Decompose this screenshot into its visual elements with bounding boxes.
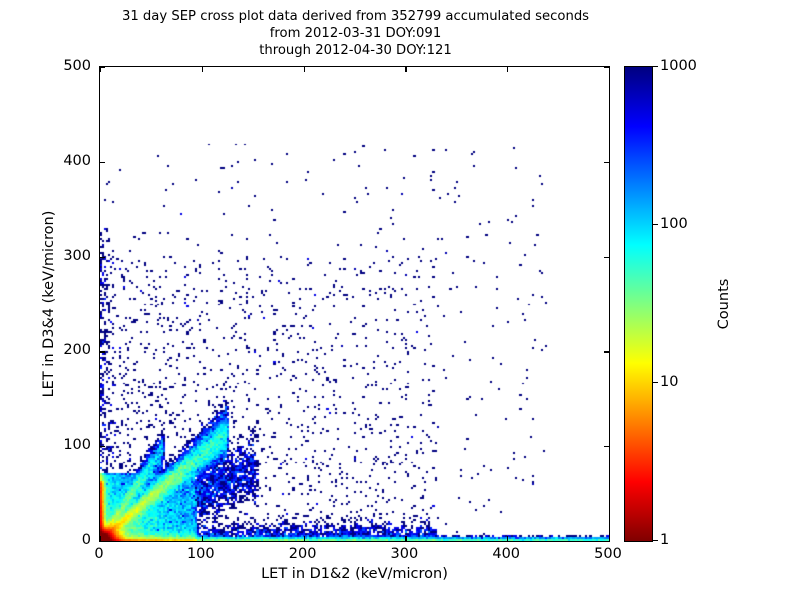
colorbar-tick-100 — [653, 224, 658, 225]
x-tick-300 — [405, 536, 406, 541]
plot-axes — [99, 66, 610, 542]
x-tick-top-500 — [609, 67, 610, 72]
y-tick-400 — [100, 162, 105, 163]
colorbar-tick-10 — [653, 382, 658, 383]
y-tick-right-200 — [604, 351, 609, 352]
x-tick-top-200 — [304, 67, 305, 72]
colorbar-ticklabel-100: 100 — [660, 216, 688, 232]
x-tick-top-300 — [405, 67, 406, 72]
title-line-1: 31 day SEP cross plot data derived from … — [0, 8, 711, 25]
x-tick-100 — [202, 536, 203, 541]
x-ticklabel-300: 300 — [391, 546, 419, 562]
x-ticklabel-200: 200 — [289, 546, 317, 562]
colorbar-axis-label: Counts — [713, 66, 735, 542]
x-ticklabel-400: 400 — [492, 546, 520, 562]
scatter-density-canvas — [100, 67, 609, 541]
y-axis-label: LET in D3&4 (keV/micron) — [38, 66, 60, 542]
x-tick-200 — [304, 536, 305, 541]
x-tick-top-400 — [507, 67, 508, 72]
x-ticklabel-500: 500 — [594, 546, 622, 562]
y-tick-200 — [100, 351, 105, 352]
colorbar-tick-1 — [653, 540, 658, 541]
y-tick-right-300 — [604, 257, 609, 258]
colorbar-tick-1000 — [653, 66, 658, 67]
colorbar-ticklabel-1: 1 — [660, 532, 669, 548]
y-tick-500 — [100, 67, 105, 68]
y-tick-right-100 — [604, 446, 609, 447]
y-tick-right-0 — [604, 541, 609, 542]
x-tick-400 — [507, 536, 508, 541]
title-line-2: from 2012-03-31 DOY:091 — [0, 25, 711, 42]
figure-sep-cross-plot: 31 day SEP cross plot data derived from … — [0, 0, 800, 600]
colorbar-ticklabel-10: 10 — [660, 374, 678, 390]
x-tick-500 — [609, 536, 610, 541]
colorbar-ticklabel-1000: 1000 — [660, 58, 697, 74]
x-tick-top-100 — [202, 67, 203, 72]
title-line-3: through 2012-04-30 DOY:121 — [0, 42, 711, 59]
y-tick-100 — [100, 446, 105, 447]
y-tick-0 — [100, 541, 105, 542]
y-tick-right-400 — [604, 162, 609, 163]
y-tick-300 — [100, 257, 105, 258]
x-axis-label: LET in D1&2 (keV/micron) — [99, 566, 610, 582]
y-tick-right-500 — [604, 67, 609, 68]
colorbar-gradient — [624, 66, 653, 542]
x-ticklabel-0: 0 — [94, 546, 103, 562]
colorbar — [624, 66, 653, 542]
figure-title: 31 day SEP cross plot data derived from … — [0, 8, 711, 59]
x-ticklabel-100: 100 — [187, 546, 215, 562]
